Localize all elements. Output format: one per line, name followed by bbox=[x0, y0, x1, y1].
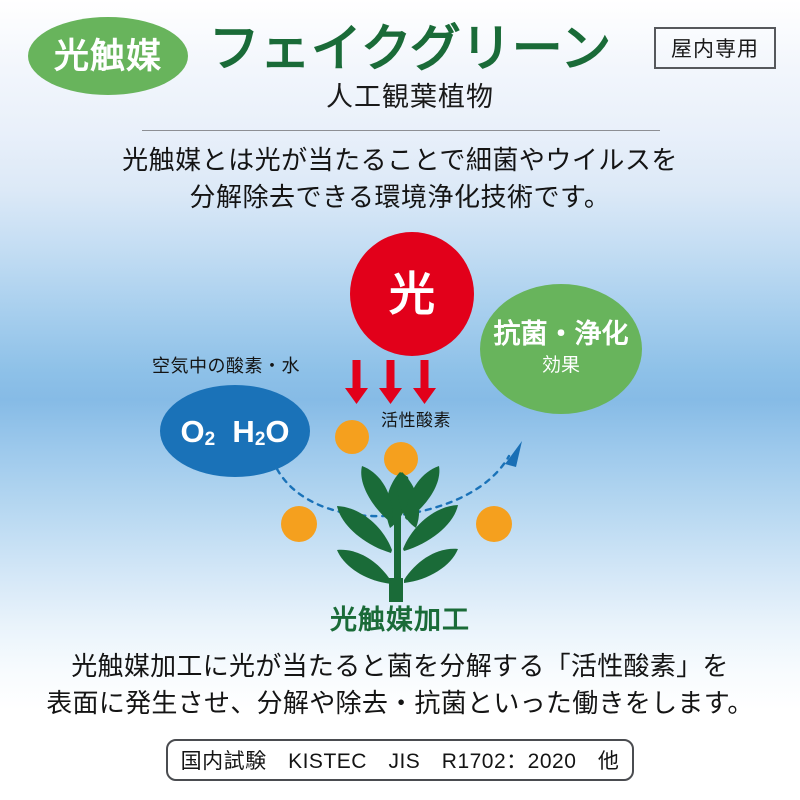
arrow-down-icon bbox=[345, 360, 436, 404]
antibacterial-effect-label: 抗菌・浄化 bbox=[494, 320, 629, 350]
ros-dot-icon bbox=[281, 420, 512, 542]
plant-leaf-icon bbox=[337, 466, 458, 602]
test-certification-label: 国内試験 KISTEC JIS R1702：2020 他 bbox=[181, 745, 620, 775]
formula-h2o-o: O bbox=[265, 414, 289, 449]
light-source-circle: 光 bbox=[350, 232, 474, 356]
bottom-line-2: 表面に発生させ、分解や除去・抗菌といった働きをします。 bbox=[0, 685, 800, 722]
reactive-oxygen-label: 活性酸素 bbox=[381, 406, 451, 431]
oxygen-water-ellipse: O2 H2O bbox=[160, 385, 310, 477]
infographic-page: 光触媒 フェイクグリーン 人工観葉植物 屋内専用 光触媒とは光が当たることで細菌… bbox=[0, 0, 800, 800]
antibacterial-effect-circle: 抗菌・浄化 効果 bbox=[480, 284, 642, 414]
formula-h2o-h: H bbox=[232, 414, 254, 449]
bottom-line-1: 光触媒加工に光が当たると菌を分解する「活性酸素」を bbox=[0, 648, 800, 685]
bottom-paragraph: 光触媒加工に光が当たると菌を分解する「活性酸素」を 表面に発生させ、分解や除去・… bbox=[0, 648, 800, 723]
formula-o2-subscript: 2 bbox=[205, 429, 216, 450]
formula-o2-symbol: O bbox=[180, 414, 204, 449]
chemical-formula: O2 H2O bbox=[180, 416, 289, 447]
antibacterial-effect-sublabel: 効果 bbox=[542, 355, 580, 378]
light-source-label: 光 bbox=[389, 271, 435, 317]
curved-dashed-arrow-icon bbox=[277, 441, 522, 516]
photocatalyst-coating-label: 光触媒加工 bbox=[0, 598, 800, 637]
air-oxygen-water-label: 空気中の酸素・水 bbox=[152, 352, 300, 378]
formula-h2o-subscript: 2 bbox=[255, 429, 266, 450]
test-certification-box: 国内試験 KISTEC JIS R1702：2020 他 bbox=[166, 739, 634, 781]
